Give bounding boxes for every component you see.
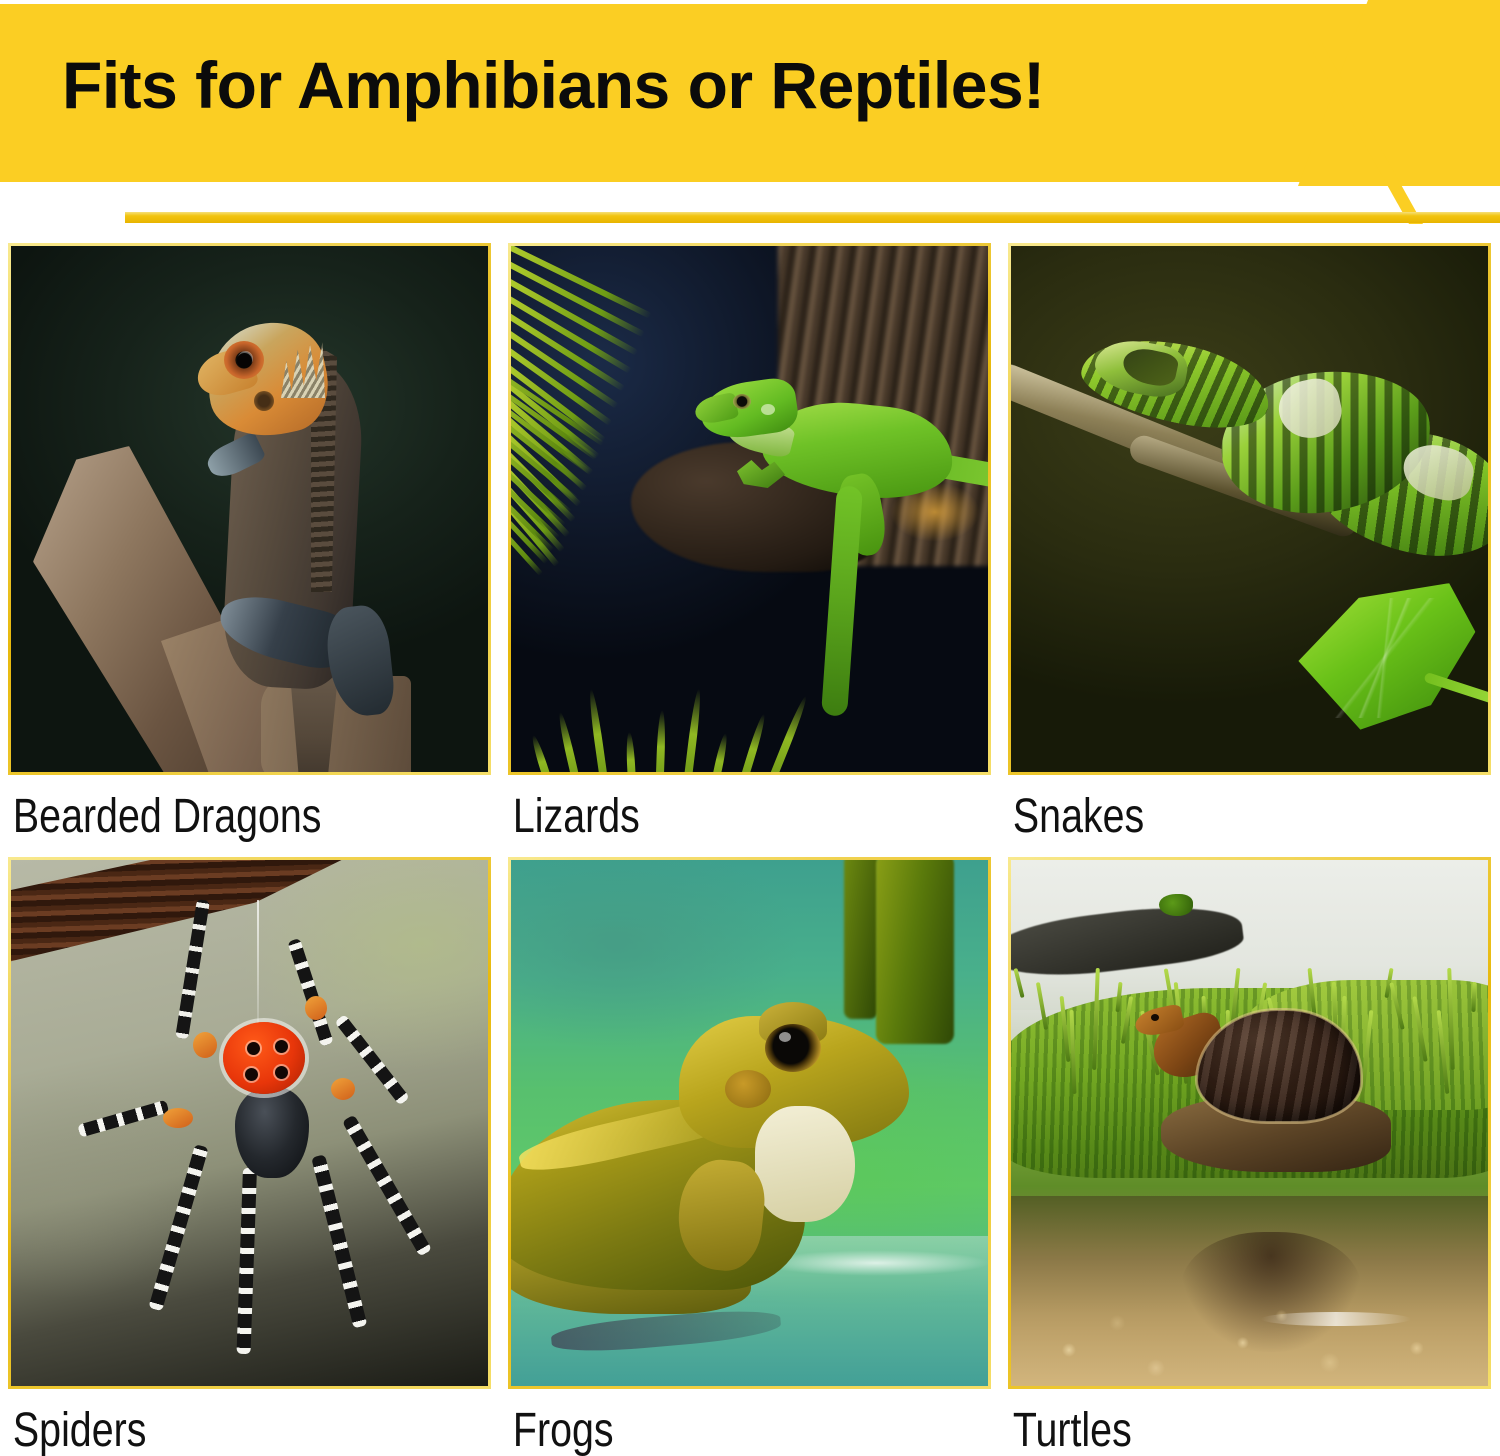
pebbles-underwater [1011, 1296, 1488, 1386]
scene-spider [11, 860, 488, 1386]
spider-spot-4 [275, 1066, 288, 1079]
thumbnail-bearded-dragons[interactable] [8, 243, 491, 775]
spider-spot-1 [247, 1042, 260, 1055]
frog-tympanum [725, 1070, 771, 1108]
fern-frond-lower [511, 366, 651, 536]
caption-bearded-dragons: Bearded Dragons [8, 775, 404, 857]
header-banner: Fits for Amphibians or Reptiles! [0, 0, 1500, 232]
reed-stem-2 [844, 860, 878, 1019]
header-accent-bar [125, 212, 1500, 223]
scene-bearded-dragon [11, 246, 488, 772]
grid-cell-turtles[interactable]: Turtles [1008, 857, 1491, 1456]
grid-row-1: Bearded Dragons [8, 243, 1492, 857]
promo-banner-page: Fits for Amphibians or Reptiles! [0, 0, 1500, 1456]
frog-eye-highlight [779, 1032, 791, 1042]
dragon-pupil [237, 353, 252, 368]
scene-turtle [1011, 860, 1488, 1386]
spider-cephalothorax [235, 1086, 309, 1178]
spider-red-abdomen [223, 1022, 305, 1094]
water-ripple [761, 1250, 988, 1276]
spider-spot-2 [275, 1040, 288, 1053]
spider-joint-2 [305, 996, 327, 1020]
frog-white-belly [755, 1106, 855, 1222]
turtle-eye [1151, 1014, 1159, 1021]
spider-spot-3 [245, 1068, 258, 1081]
grid-cell-snakes[interactable]: Snakes [1008, 243, 1491, 857]
thumbnail-frogs[interactable] [508, 857, 991, 1389]
caption-frogs: Frogs [508, 1389, 904, 1456]
scene-frog [511, 860, 988, 1386]
spider-joint-1 [193, 1032, 217, 1058]
thumbnail-spiders[interactable] [8, 857, 491, 1389]
animal-grid: Bearded Dragons [8, 243, 1492, 1456]
caption-spiders: Spiders [8, 1389, 404, 1456]
thumbnail-snakes[interactable] [1008, 243, 1491, 775]
seedling-sprout [1159, 894, 1193, 916]
spider-joint-4 [163, 1108, 193, 1128]
frog-eye [765, 1024, 821, 1072]
grid-cell-bearded-dragons[interactable]: Bearded Dragons [8, 243, 491, 857]
dragon-ear-opening [254, 391, 274, 411]
grid-cell-lizards[interactable]: Lizards [508, 243, 991, 857]
grid-cell-spiders[interactable]: Spiders [8, 857, 491, 1456]
leaf-veins [1311, 598, 1461, 718]
scene-lizard [511, 246, 988, 772]
caption-turtles: Turtles [1008, 1389, 1404, 1456]
reed-stem-1 [876, 860, 954, 1044]
page-title: Fits for Amphibians or Reptiles! [62, 52, 1045, 118]
caption-lizards: Lizards [508, 775, 904, 857]
thumbnail-turtles[interactable] [1008, 857, 1491, 1389]
grid-row-2: Spiders [8, 857, 1492, 1456]
caption-snakes: Snakes [1008, 775, 1404, 857]
fern-sprouts-bottom [551, 682, 781, 772]
scene-snake [1011, 246, 1488, 772]
lizard-eye [733, 394, 751, 409]
spider-joint-3 [331, 1078, 355, 1100]
silk-thread [257, 900, 259, 1030]
grid-cell-frogs[interactable]: Frogs [508, 857, 991, 1456]
thumbnail-lizards[interactable] [508, 243, 991, 775]
lizard-ear-drum [761, 404, 775, 415]
water-highlight [1261, 1312, 1411, 1326]
